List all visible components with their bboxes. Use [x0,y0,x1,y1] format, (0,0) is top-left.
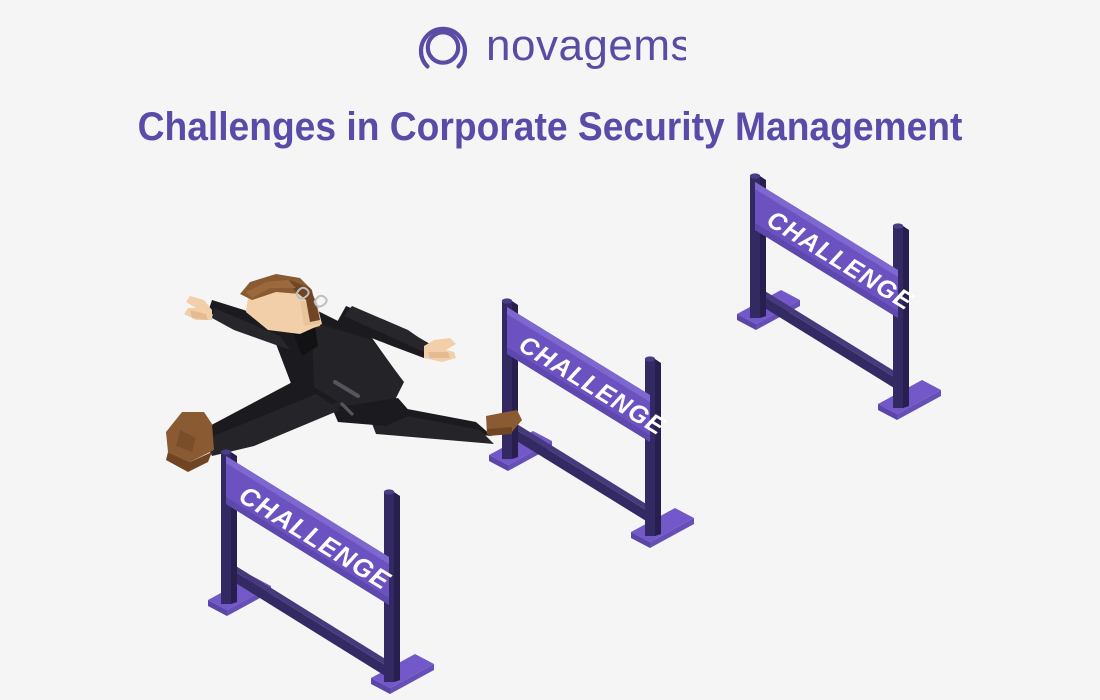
hero-illustration: CHALLENGE CHALLENGE [0,0,1100,700]
businessman-runner [166,274,522,472]
runner-right-hand [424,338,456,362]
hurdle-front-label: CHALLENGE [234,480,396,596]
runner-front-shoe [166,412,214,472]
runner-left-hand [184,296,212,320]
hurdle-back-foot-right [878,380,941,420]
hurdle-middle: CHALLENGE [489,298,694,548]
hurdle-back: CHALLENGE [737,173,941,420]
hurdle-front: CHALLENGE [208,449,434,694]
